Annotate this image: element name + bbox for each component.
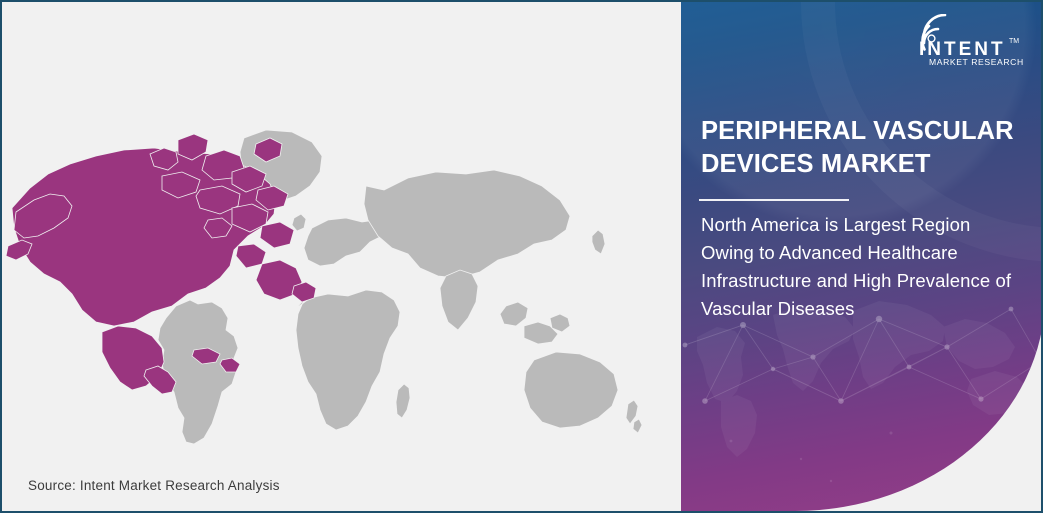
intent-market-research-logo[interactable]: INTENT TM MARKET RESEARCH <box>909 14 1025 68</box>
panel-subtitle: North America is Largest Region Owing to… <box>701 211 1021 323</box>
source-label: Source: Intent Market Research Analysis <box>28 478 280 493</box>
world-map-svg <box>2 60 681 460</box>
logo-tagline: MARKET RESEARCH <box>929 57 1024 67</box>
market-report-banner: Source: Intent Market Research Analysis <box>0 0 1043 513</box>
page-title: PERIPHERAL VASCULAR DEVICES MARKET <box>701 115 1031 180</box>
title-divider <box>699 199 849 201</box>
map-panel: Source: Intent Market Research Analysis <box>2 2 681 511</box>
info-panel: INTENT TM MARKET RESEARCH PERIPHERAL VAS… <box>681 2 1043 511</box>
logo-trademark: TM <box>1009 38 1019 45</box>
